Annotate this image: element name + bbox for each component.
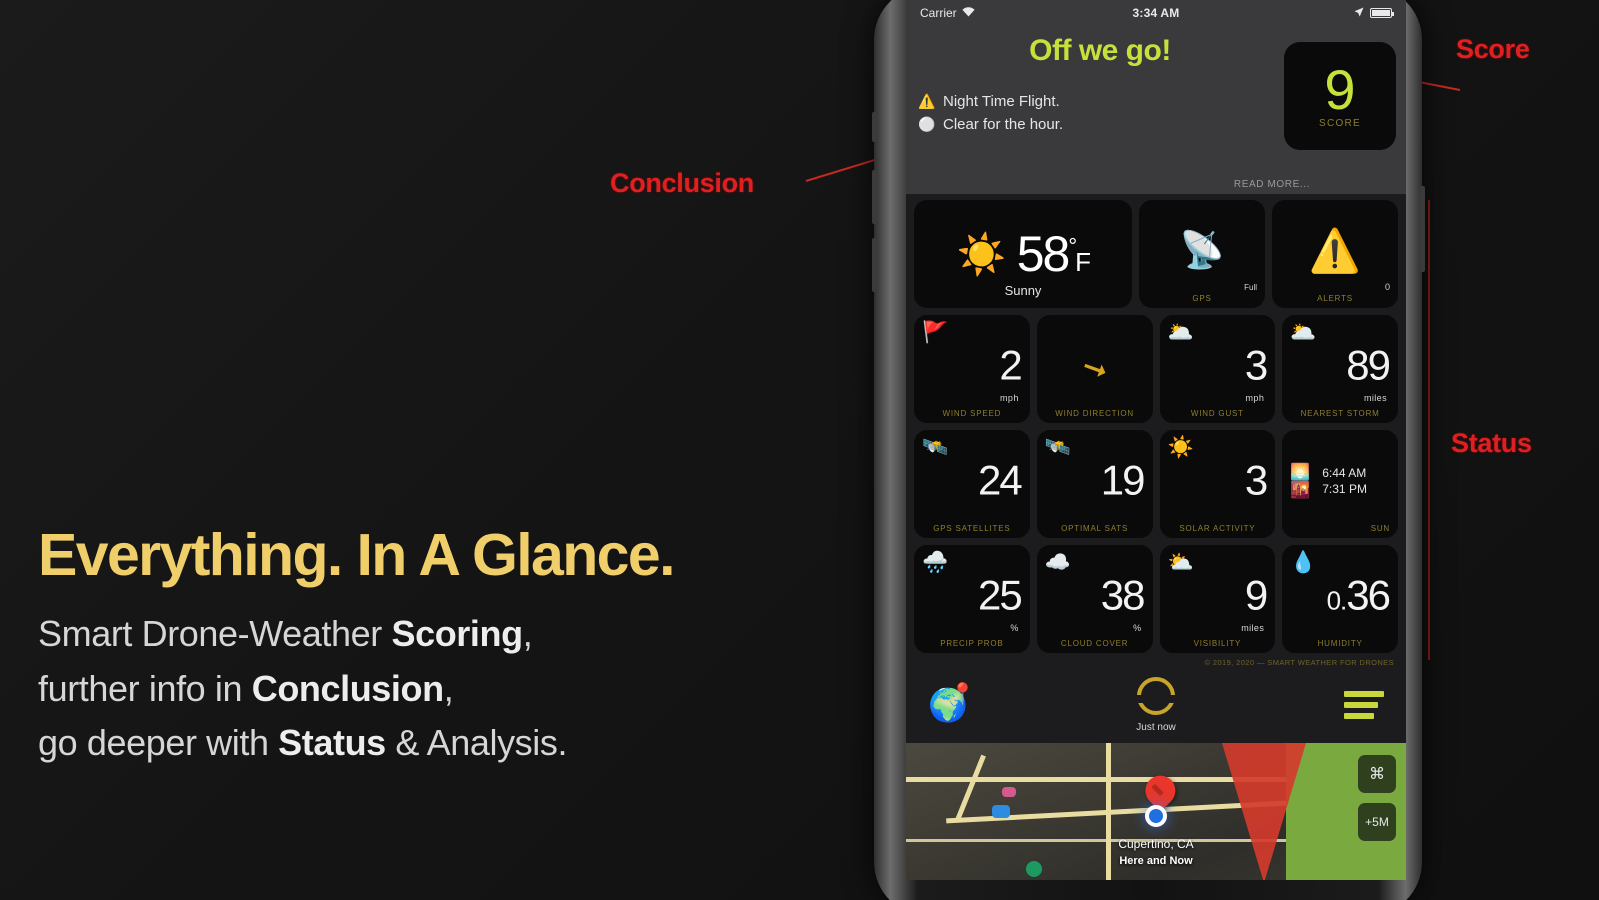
tile-label: GPS SATELLITES: [914, 524, 1030, 533]
tile-value: 0.36: [1327, 575, 1389, 617]
tile-row-4: 🌧️ 25 % PRECIP PROB ☁️ 38 % CLOUD COVER …: [914, 545, 1398, 653]
subcopy-text: further info in: [38, 668, 252, 709]
visibility-icon: ⛅: [1168, 552, 1194, 573]
subcopy-punct: ,: [523, 613, 533, 654]
subcopy-line-2: further info in Conclusion,: [38, 662, 878, 717]
annotation-score: Score: [1456, 34, 1530, 65]
annotation-conclusion: Conclusion: [610, 168, 754, 199]
tile-value: 38: [1101, 575, 1144, 617]
copyright-text: © 2019, 2020 — SMART WEATHER FOR DRONES: [906, 658, 1406, 667]
subcopy-line-3: go deeper with Status & Analysis.: [38, 716, 878, 771]
gps-strength-value: Full: [1244, 283, 1257, 292]
tile-label: OPTIMAL SATS: [1037, 524, 1153, 533]
conclusion-item-label: Clear for the hour.: [943, 113, 1063, 136]
score-card[interactable]: 9 SCORE: [1284, 42, 1396, 150]
map-road: [955, 755, 986, 822]
tile-label: SUN: [1371, 524, 1390, 533]
subcopy-emphasis-conclusion: Conclusion: [252, 668, 444, 709]
marketing-subcopy: Smart Drone-Weather Scoring, further inf…: [38, 607, 878, 771]
map-poi-icon: [992, 805, 1010, 818]
globe-map-icon: 🌍📍: [928, 686, 968, 724]
annotation-leader-line-status: [1428, 200, 1430, 660]
tile-value: 2: [999, 345, 1020, 387]
status-bar: Carrier 3:34 AM: [906, 0, 1406, 26]
battery-icon: [1370, 8, 1392, 18]
toolbar-map-button[interactable]: 🌍📍: [928, 686, 1080, 724]
tile-unit: miles: [1241, 623, 1264, 633]
tile-value: 19: [1101, 460, 1144, 502]
tile-label: CLOUD COVER: [1037, 639, 1153, 648]
map-zoom-button[interactable]: +5M: [1358, 803, 1396, 841]
tile-unit: %: [1010, 623, 1018, 633]
solar-icon: ☀️: [1168, 437, 1194, 458]
score-value: 9: [1324, 63, 1355, 116]
subcopy-text: go deeper with: [38, 722, 278, 763]
tile-sunrise-sunset[interactable]: 🌅🌇 6:44 AM 7:31 PM SUN: [1282, 430, 1398, 538]
subcopy-emphasis-scoring: Scoring: [391, 613, 522, 654]
wind-flag-icon: 🚩: [922, 322, 948, 343]
map-location-label: Cupertino, CA Here and Now: [906, 837, 1406, 868]
humidity-icon: 💧: [1290, 552, 1316, 573]
tile-label: HUMIDITY: [1282, 639, 1398, 648]
subcopy-text: Smart Drone-Weather: [38, 613, 391, 654]
hamburger-menu-icon: [1344, 691, 1384, 719]
tile-row-1: ☀️ 58°F Sunny 📡 Full GPS ⚠️ 0 ALERTS: [914, 200, 1398, 308]
tile-unit: miles: [1364, 393, 1387, 403]
tile-label: NEAREST STORM: [1282, 409, 1398, 418]
tile-temperature[interactable]: ☀️ 58°F Sunny: [914, 200, 1132, 308]
tile-label: PRECIP PROB: [914, 639, 1030, 648]
tile-unit: %: [1133, 623, 1141, 633]
tile-unit: mph: [1000, 393, 1019, 403]
optimal-satellite-icon: 🛰️: [1045, 437, 1071, 458]
wind-direction-arrow-icon: ➞: [1077, 348, 1113, 389]
subcopy-punct: ,: [444, 668, 454, 709]
annotation-status: Status: [1451, 428, 1532, 459]
alert-triangle-icon: ⚠️: [1309, 227, 1361, 276]
tile-gps-signal[interactable]: 📡 Full GPS: [1139, 200, 1265, 308]
temperature-number: 58: [1017, 226, 1069, 282]
volume-down-button[interactable]: [872, 238, 877, 292]
tile-optimal-sats[interactable]: 🛰️ 19 OPTIMAL SATS: [1037, 430, 1153, 538]
tile-label: SOLAR ACTIVITY: [1160, 524, 1276, 533]
tile-wind-speed[interactable]: 🚩 2 mph WIND SPEED: [914, 315, 1030, 423]
page-title: Everything. In A Glance.: [38, 525, 878, 587]
location-arrow-icon: [1354, 6, 1364, 20]
humidity-leading-zero: 0.: [1327, 586, 1347, 616]
tile-label: VISIBILITY: [1160, 639, 1276, 648]
carrier-label: Carrier: [920, 6, 957, 20]
tile-value: 3: [1245, 345, 1266, 387]
promo-screenshot: Everything. In A Glance. Smart Drone-Wea…: [0, 0, 1599, 900]
tile-label: GPS: [1139, 294, 1265, 303]
map-pin-badge-icon: 📍: [950, 681, 975, 706]
tile-row-3: 🛰️ 24 GPS SATELLITES 🛰️ 19 OPTIMAL SATS …: [914, 430, 1398, 538]
silent-switch[interactable]: [872, 112, 877, 142]
subcopy-line-1: Smart Drone-Weather Scoring,: [38, 607, 878, 662]
status-bar-right: [1179, 6, 1392, 20]
subcopy-emphasis-status: Status: [278, 722, 386, 763]
status-bar-time: 3:34 AM: [1133, 6, 1180, 20]
temperature-unit: F: [1075, 247, 1089, 277]
tile-wind-gust[interactable]: 🌥️ 3 mph WIND GUST: [1160, 315, 1276, 423]
tile-value: 3: [1245, 460, 1266, 502]
phone-screen: Carrier 3:34 AM Off we go! ⚠️ Night Time…: [906, 0, 1406, 880]
refresh-icon: [1137, 677, 1175, 715]
tile-label: WIND SPEED: [914, 409, 1030, 418]
sunset-time: 7:31 PM: [1322, 482, 1367, 496]
tile-value: 25: [978, 575, 1021, 617]
toolbar-refresh-button[interactable]: Just now: [1080, 677, 1232, 733]
weather-condition-label: Sunny: [914, 283, 1132, 298]
white-circle-icon: ⚪: [918, 114, 935, 136]
bottom-toolbar: 🌍📍 Just now: [906, 667, 1406, 743]
tile-visibility[interactable]: ⛅ 9 miles VISIBILITY: [1160, 545, 1276, 653]
marketing-copy: Everything. In A Glance. Smart Drone-Wea…: [38, 525, 878, 771]
tile-wind-direction[interactable]: ➞ WIND DIRECTION: [1037, 315, 1153, 423]
temperature-value: 58°F: [1017, 225, 1089, 283]
satellite-icon: 🛰️: [922, 437, 948, 458]
map-layers-button[interactable]: ⌘: [1358, 755, 1396, 793]
tile-cloud-cover[interactable]: ☁️ 38 % CLOUD COVER: [1037, 545, 1153, 653]
tile-value: 89: [1346, 345, 1389, 387]
tile-precip-prob[interactable]: 🌧️ 25 % PRECIP PROB: [914, 545, 1030, 653]
tile-label: WIND GUST: [1160, 409, 1276, 418]
map-place-subtitle: Here and Now: [1119, 855, 1192, 867]
map-place-name: Cupertino, CA: [1118, 837, 1193, 851]
refresh-status-label: Just now: [1136, 722, 1175, 733]
tile-label: WIND DIRECTION: [1037, 409, 1153, 418]
rain-cloud-icon: 🌧️: [922, 552, 948, 573]
humidity-number: 36: [1346, 572, 1389, 619]
subcopy-text: & Analysis.: [386, 722, 567, 763]
tile-gps-satellites[interactable]: 🛰️ 24 GPS SATELLITES: [914, 430, 1030, 538]
cloud-icon: 🌥️: [1290, 322, 1316, 343]
warning-triangle-icon: ⚠️: [918, 91, 935, 113]
map-poi-icon: [1002, 787, 1016, 797]
status-bar-left: Carrier: [920, 6, 1133, 20]
tile-row-2: 🚩 2 mph WIND SPEED ➞ WIND DIRECTION 🌥️ 3…: [914, 315, 1398, 423]
header-conclusion-panel: Off we go! ⚠️ Night Time Flight. ⚪ Clear…: [906, 26, 1406, 194]
tile-value: 24: [978, 460, 1021, 502]
tile-unit: mph: [1246, 393, 1265, 403]
tile-humidity[interactable]: 💧 0.36 HUMIDITY: [1282, 545, 1398, 653]
tile-solar-activity[interactable]: ☀️ 3 SOLAR ACTIVITY: [1160, 430, 1276, 538]
map-view[interactable]: Cupertino, CA Here and Now ⌘ +5M: [906, 743, 1406, 880]
toolbar-menu-button[interactable]: [1232, 691, 1384, 719]
cloud-cover-icon: ☁️: [1045, 552, 1071, 573]
cloud-wind-icon: 🌥️: [1168, 322, 1194, 343]
tile-nearest-storm[interactable]: 🌥️ 89 miles NEAREST STORM: [1282, 315, 1398, 423]
tile-value: 9: [1245, 575, 1266, 617]
tile-alerts[interactable]: ⚠️ 0 ALERTS: [1272, 200, 1398, 308]
weather-tile-grid: ☀️ 58°F Sunny 📡 Full GPS ⚠️ 0 ALERTS: [906, 194, 1406, 653]
user-location-dot-icon: [1145, 805, 1167, 827]
tile-label: ALERTS: [1272, 294, 1398, 303]
wifi-icon: [962, 6, 975, 20]
sunrise-sunset-icon: 🌅🌇: [1290, 464, 1310, 501]
gps-signal-icon: 📡: [1180, 229, 1225, 271]
volume-up-button[interactable]: [872, 170, 877, 224]
power-button[interactable]: [1420, 186, 1425, 272]
sun-icon: ☀️: [957, 231, 1007, 278]
read-more-link[interactable]: READ MORE...: [1234, 179, 1310, 190]
alerts-count: 0: [1385, 282, 1390, 292]
sun-times: 6:44 AM 7:31 PM: [1322, 465, 1367, 497]
score-label: SCORE: [1319, 118, 1361, 129]
sunrise-time: 6:44 AM: [1322, 466, 1366, 480]
conclusion-item-label: Night Time Flight.: [943, 90, 1060, 113]
